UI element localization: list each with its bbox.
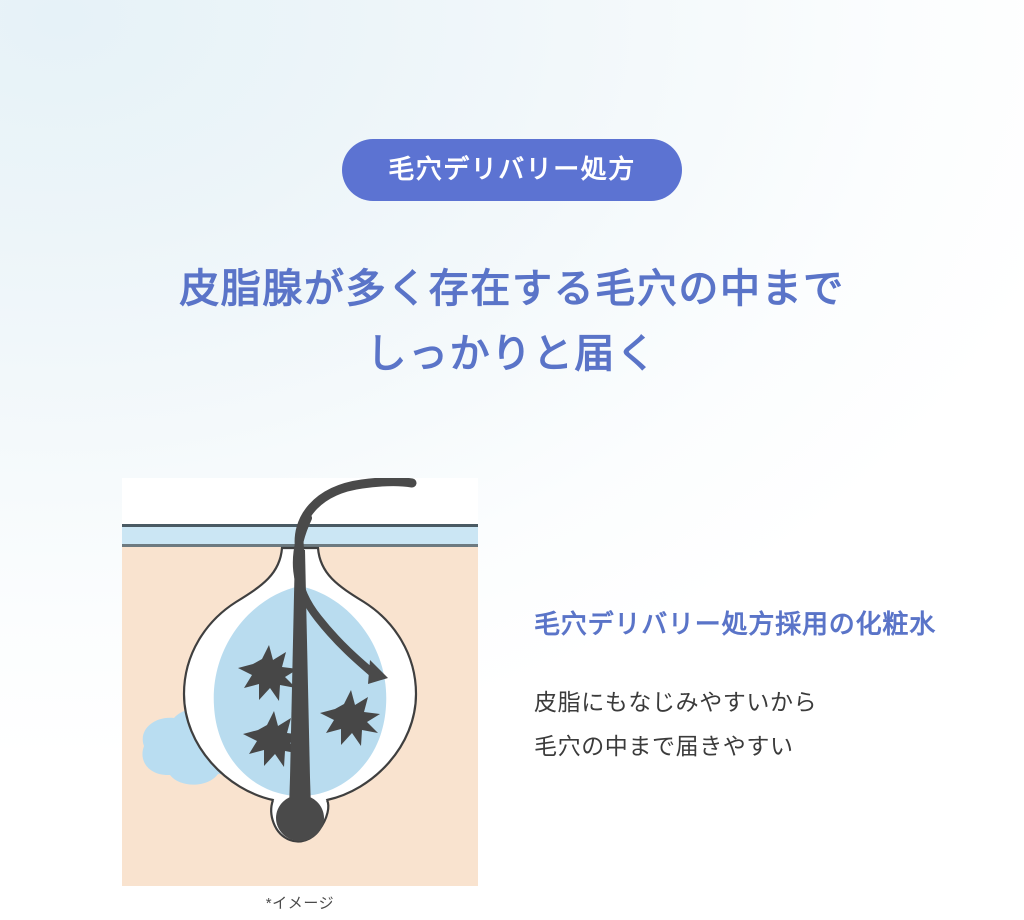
skin-cross-section-illustration (122, 478, 478, 886)
illustration-caption: *イメージ (122, 892, 478, 913)
formulation-badge: 毛穴デリバリー処方 (342, 139, 682, 201)
hair-bulb (276, 795, 324, 841)
page-title: 皮脂腺が多く存在する毛穴の中まで しっかりと届く (0, 257, 1024, 387)
badge-container: 毛穴デリバリー処方 (0, 139, 1024, 201)
copy-body: 皮脂にもなじみやすいから 毛穴の中まで届きやすい (534, 680, 1004, 768)
copy-body-line-1: 皮脂にもなじみやすいから (534, 680, 1004, 724)
copy-body-line-2: 毛穴の中まで届きやすい (534, 724, 1004, 768)
headline-line-1: 皮脂腺が多く存在する毛穴の中まで (0, 257, 1024, 322)
headline-line-2: しっかりと届く (0, 322, 1024, 387)
copy-title: 毛穴デリバリー処方採用の化粧水 (534, 608, 1004, 642)
promo-section: 毛穴デリバリー処方 皮脂腺が多く存在する毛穴の中まで しっかりと届く (0, 0, 1024, 920)
copy-block: 毛穴デリバリー処方採用の化粧水 皮脂にもなじみやすいから 毛穴の中まで届きやすい (534, 608, 1004, 768)
